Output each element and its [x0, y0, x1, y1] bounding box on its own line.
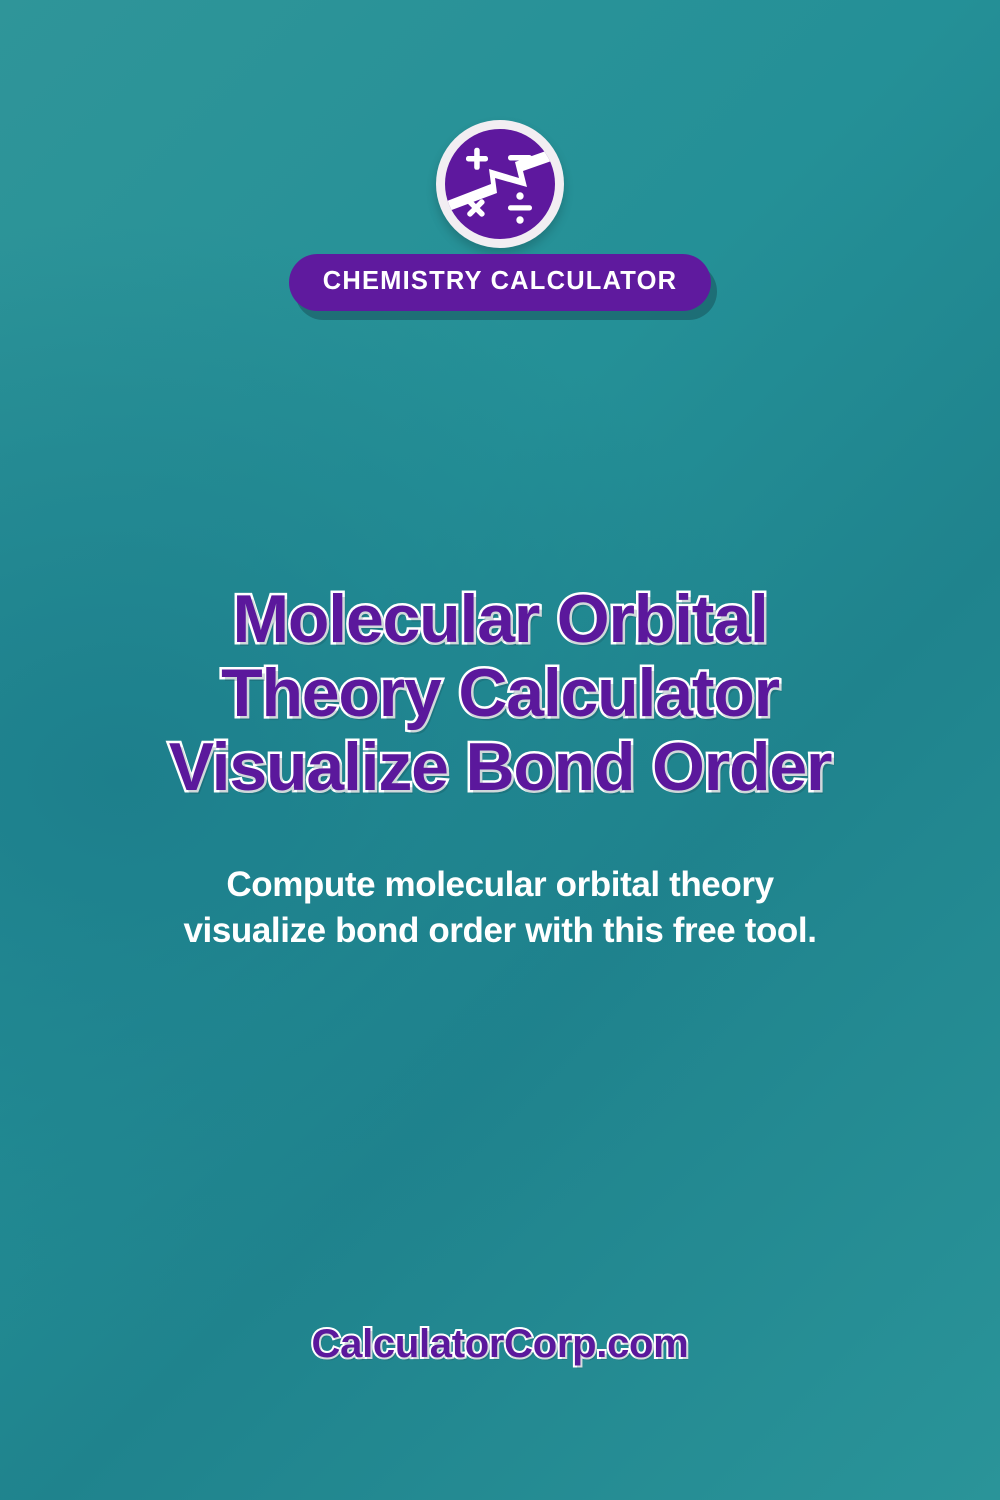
- minus-glyph: [508, 155, 532, 161]
- page-subtitle-line-1: Compute molecular orbital theory: [60, 862, 940, 908]
- brand-logo: [436, 120, 564, 248]
- footer: CalculatorCorp.com: [0, 1322, 1000, 1366]
- page-subtitle: Compute molecular orbital theory visuali…: [0, 862, 1000, 954]
- page-title: Molecular Orbital Theory Calculator Visu…: [0, 582, 1000, 804]
- page-title-line-2: Theory Calculator: [0, 656, 1000, 730]
- category-badge: CHEMISTRY CALCULATOR: [289, 254, 712, 311]
- calculator-circle-icon: [445, 129, 555, 239]
- page-title-line-1: Molecular Orbital: [0, 582, 1000, 656]
- footer-site-url: CalculatorCorp.com: [312, 1322, 689, 1366]
- page-title-line-3: Visualize Bond Order: [0, 730, 1000, 804]
- category-badge-container: CHEMISTRY CALCULATOR: [0, 254, 1000, 311]
- plus-glyph: [466, 148, 488, 170]
- poster-canvas: CHEMISTRY CALCULATOR Molecular Orbital T…: [0, 0, 1000, 1500]
- page-subtitle-line-2: visualize bond order with this free tool…: [60, 908, 940, 954]
- logo-disc: [445, 129, 555, 239]
- divide-glyph: [508, 192, 532, 223]
